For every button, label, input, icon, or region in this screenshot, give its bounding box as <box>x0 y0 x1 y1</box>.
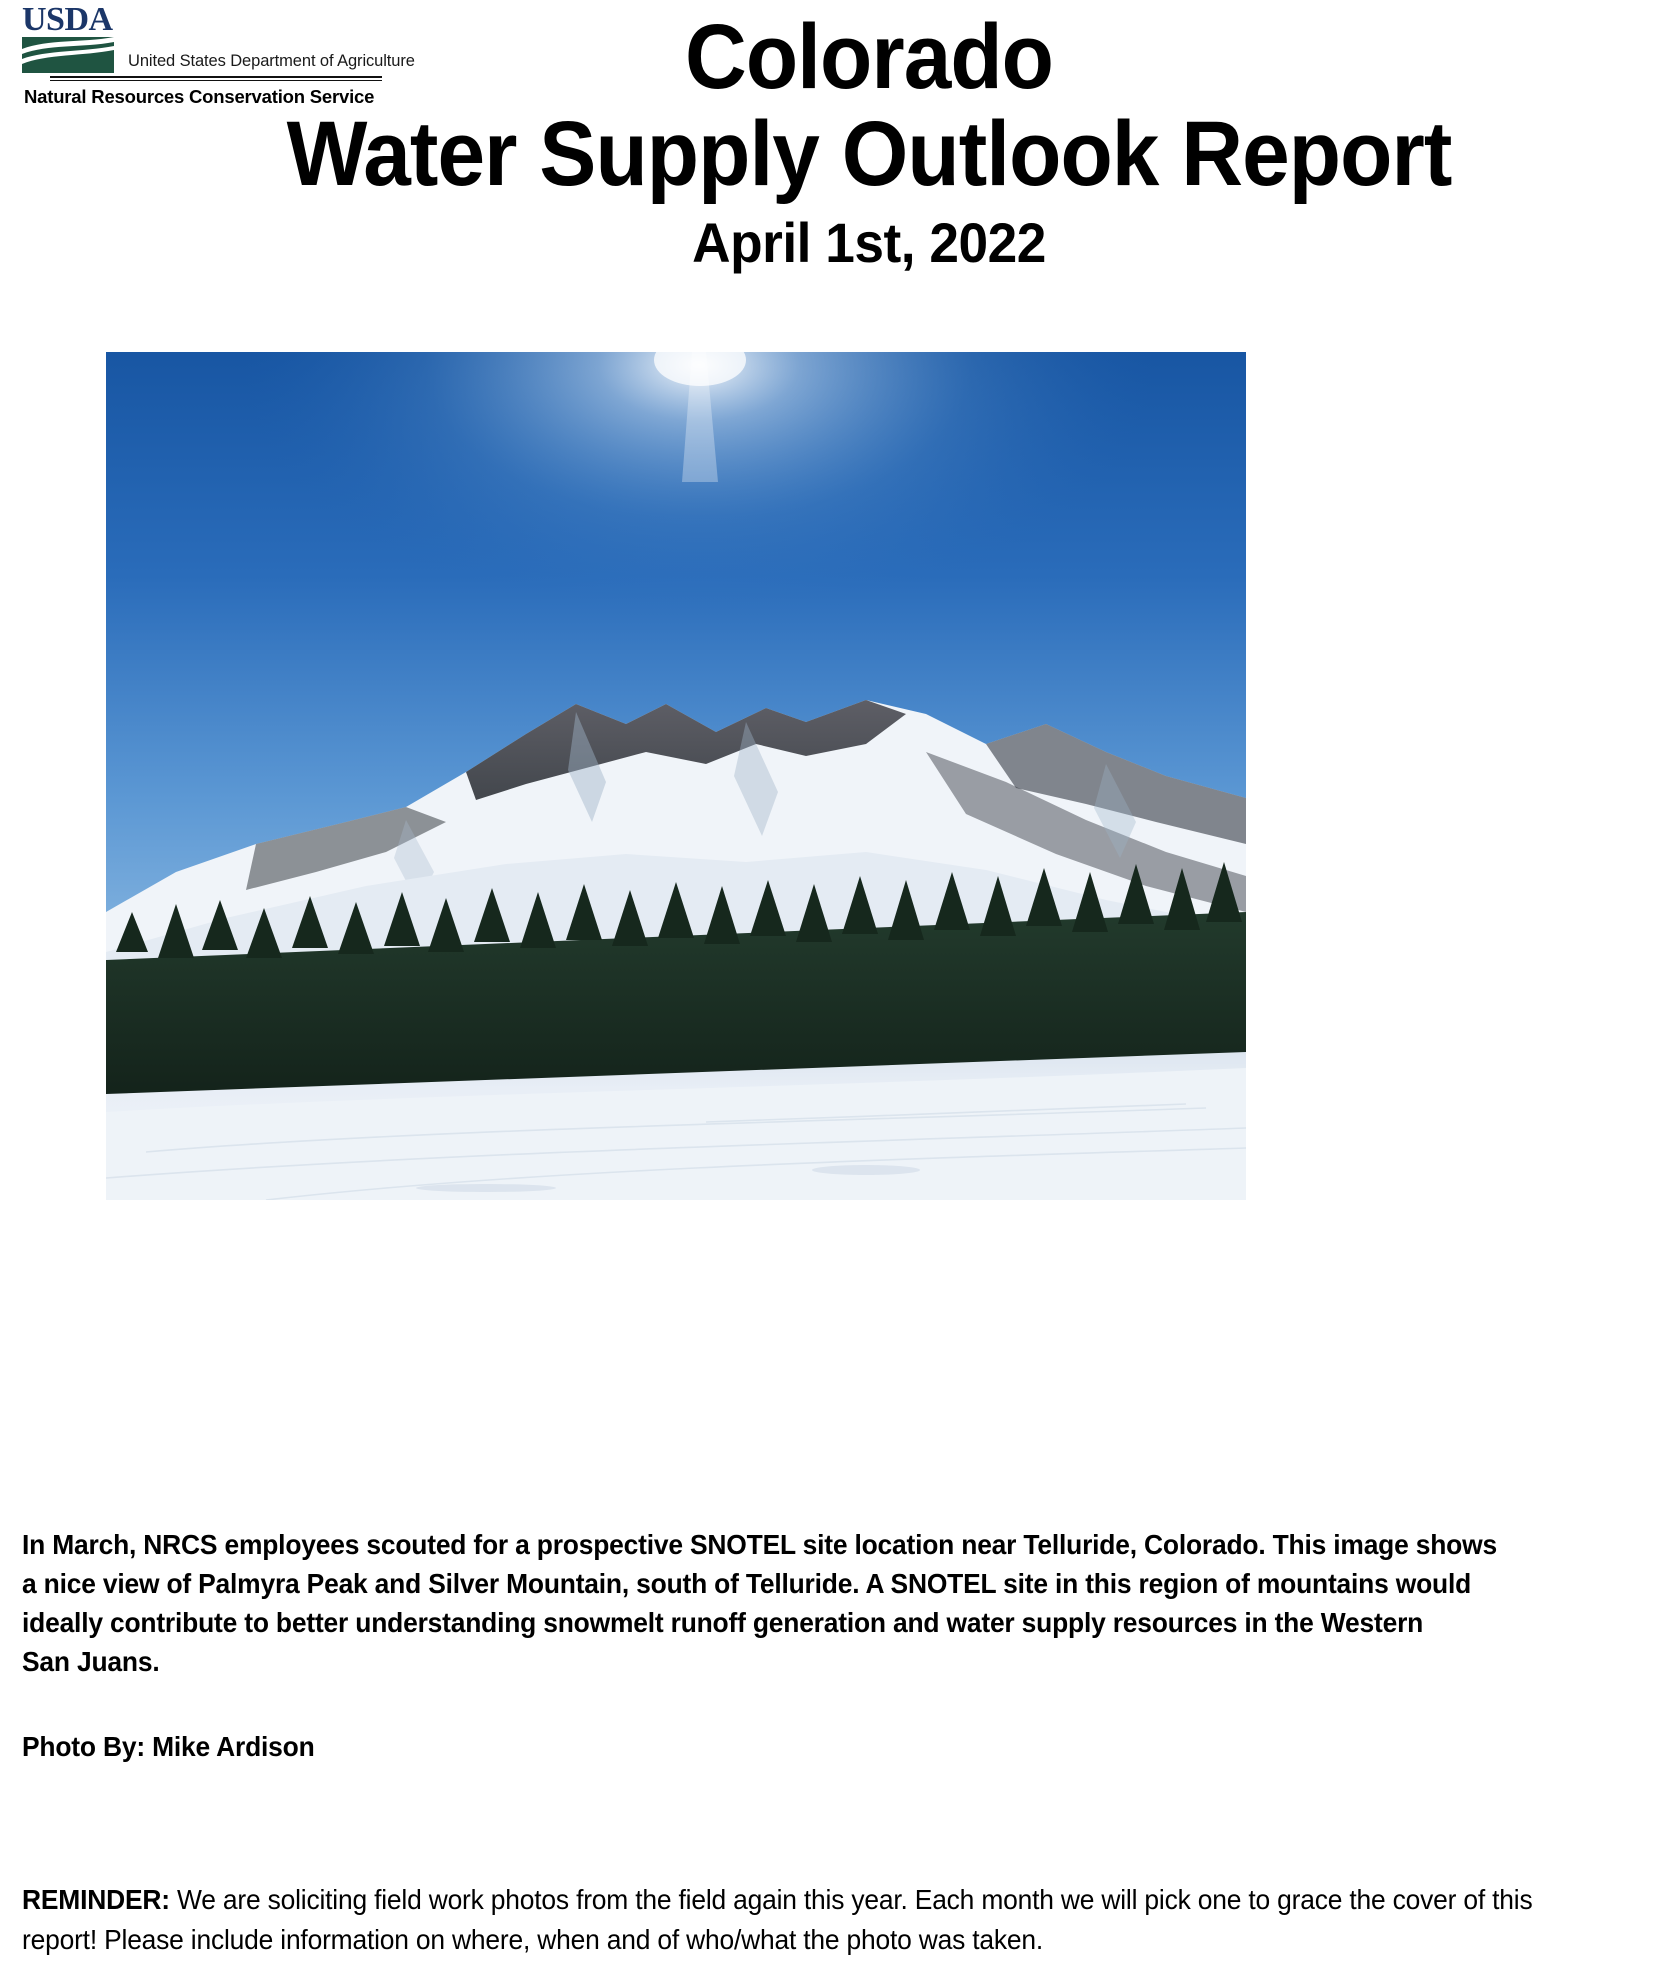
caption-line-1: In March, NRCS employees scouted for a p… <box>22 1525 1581 1564</box>
cover-photo-image <box>106 352 1246 1200</box>
reminder-text: We are soliciting field work photos from… <box>22 1884 1532 1955</box>
photo-credit: Photo By: Mike Ardison <box>22 1727 1581 1766</box>
page-title-date: April 1st, 2022 <box>110 212 1628 274</box>
reminder-note: REMINDER: We are soliciting field work p… <box>22 1880 1581 1960</box>
reminder-label: REMINDER: <box>22 1884 170 1915</box>
page-title-state: Colorado <box>126 6 1612 109</box>
page-title-report: Water Supply Outlook Report <box>126 103 1612 206</box>
cover-photo <box>106 352 1246 1200</box>
page-header: USDA United States Department of Agricul… <box>0 0 1668 330</box>
caption-line-4: San Juans. <box>22 1642 1581 1681</box>
caption-line-3: ideally contribute to better understandi… <box>22 1603 1581 1642</box>
report-title-block: Colorado Water Supply Outlook Report Apr… <box>0 6 1668 274</box>
caption-line-2: a nice view of Palmyra Peak and Silver M… <box>22 1564 1581 1603</box>
photo-caption: In March, NRCS employees scouted for a p… <box>22 1525 1646 1766</box>
